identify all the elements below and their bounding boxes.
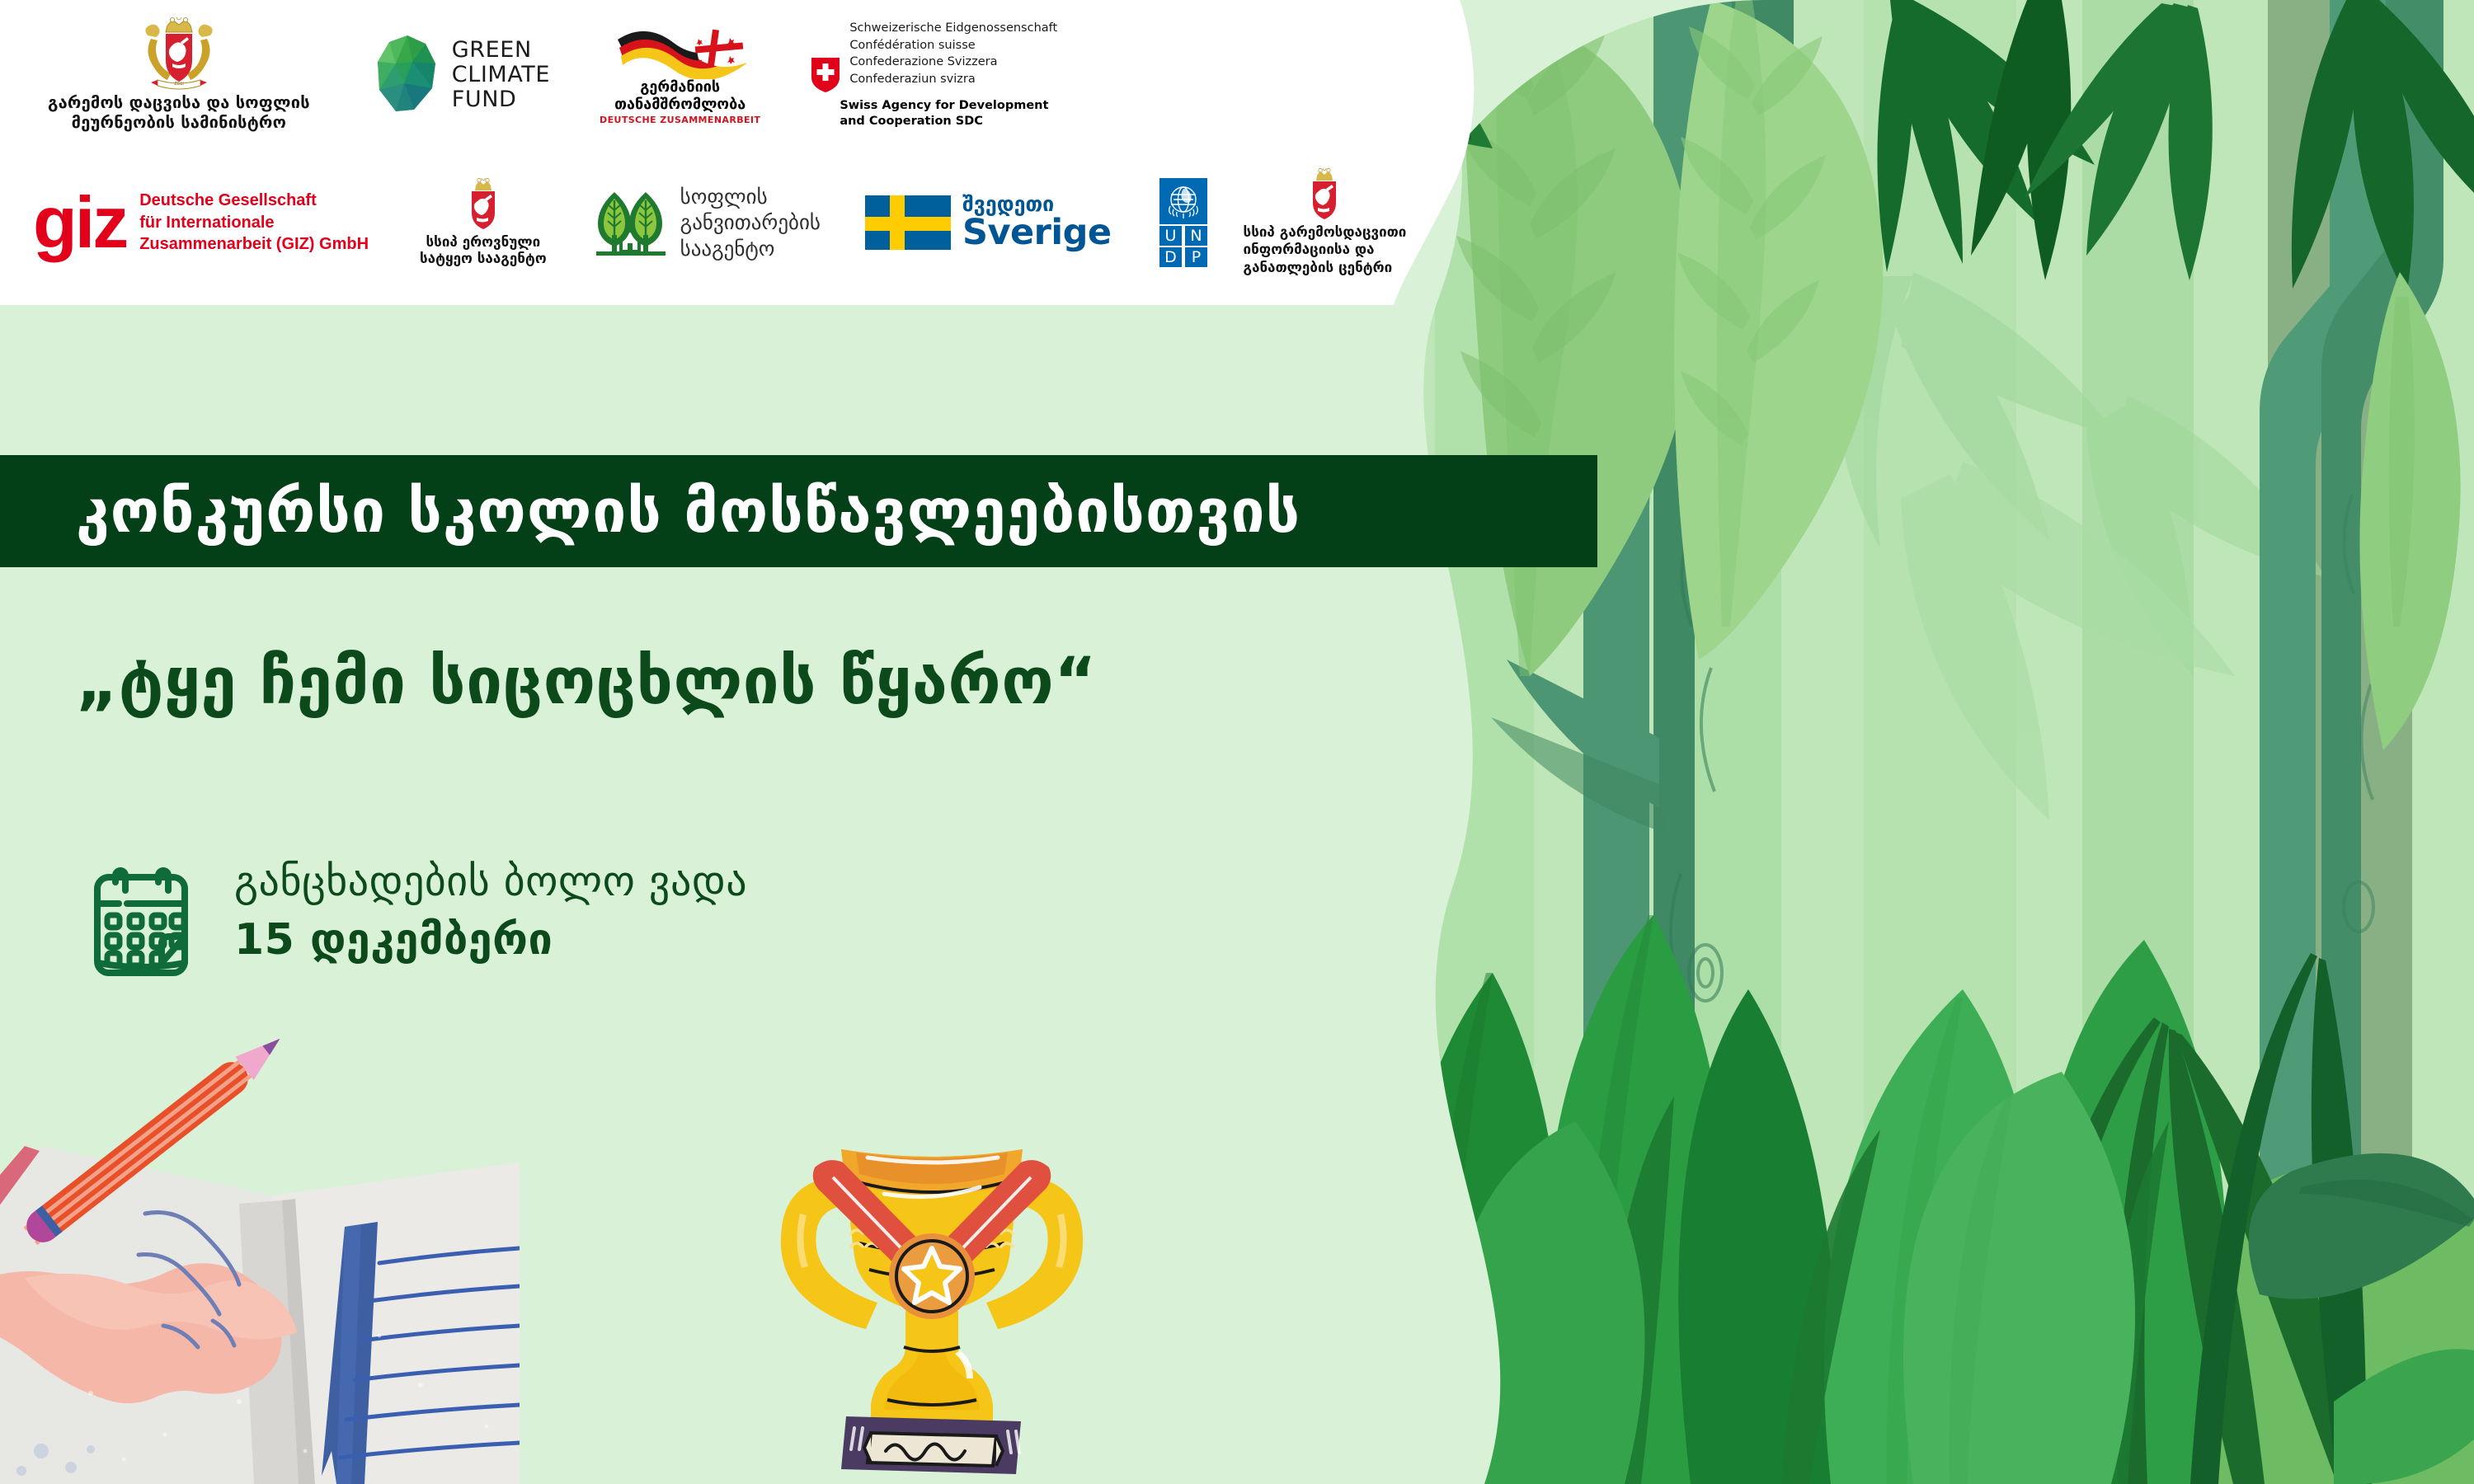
logo-gcf-label: GREEN CLIMATE FUND (452, 38, 550, 111)
calendar-icon (89, 864, 193, 983)
trophy-cup-illustration (767, 1138, 1097, 1484)
svg-text:ZGLI: ZGLI (174, 82, 184, 87)
sweden-flag-icon (865, 195, 951, 250)
logo-german-cooperation-label-geo: გერმანიის თანამშრომლობა (614, 79, 745, 113)
svg-text:D: D (1164, 248, 1177, 266)
logo-env-info-centre-label: სსიპ გარემოსდაცვითი ინფორმაციისა და განა… (1244, 224, 1407, 277)
svg-text:P: P (1191, 248, 1200, 266)
logo-giz-label: Deutsche Gesellschaft für Internationale… (139, 190, 369, 255)
georgia-coat-of-arms-icon: ZGLI (139, 17, 219, 90)
logo-giz-wordmark: giz (33, 194, 126, 251)
forest-illustration (1336, 0, 2474, 1484)
logo-environmental-information-centre: სსიპ გარემოსდაცვითი ინფორმაციისა და განა… (1244, 157, 1407, 289)
logo-undp: U N D P (1159, 157, 1207, 289)
logo-rural-dev-label: სოფლის განვითარების სააგენტო (680, 184, 821, 262)
logo-row-secondary: giz Deutsche Gesellschaft für Internatio… (33, 157, 1406, 289)
deadline-date: 15 დეკემბერი (234, 915, 747, 965)
logo-sdc-bold-lines: Swiss Agency for Development and Coopera… (840, 98, 1057, 130)
svg-text:U: U (1164, 227, 1176, 245)
logo-green-climate-fund: GREEN CLIMATE FUND (374, 5, 550, 145)
svg-text:N: N (1190, 227, 1202, 245)
logo-german-cooperation: გერმანიის თანამშრომლობა DEUTSCHE ZUSAMME… (600, 5, 760, 145)
logo-rural-development-agency: სოფლის განვითარების სააგენტო (593, 157, 821, 289)
georgia-shield-crown-icon (1306, 168, 1343, 219)
trees-house-icon (593, 187, 669, 258)
georgia-shield-crown-icon (465, 178, 501, 229)
hand-pencil-notebook-illustration (0, 1039, 520, 1484)
logo-header: ZGLI გარემოს დაცვისა და სოფლის მეურნეობი… (0, 0, 1501, 305)
logo-national-forestry-agency: სსიპ ეროვნული სატყეო სააგენტო (420, 157, 547, 289)
logo-forestry-agency-label: სსიპ ეროვნული სატყეო სააგენტო (420, 234, 547, 268)
logo-row-primary: ZGLI გარემოს დაცვისა და სოფლის მეურნეობი… (25, 5, 1057, 145)
headline-banner: კონკურსი სკოლის მოსწავლეებისთვის (0, 455, 1597, 567)
deadline-block: განცხადების ბოლო ვადა 15 დეკემბერი (89, 857, 747, 983)
swiss-cross-shield-icon (811, 58, 840, 92)
logo-sweden-label-en: Sverige (962, 214, 1112, 251)
green-climate-fund-gem-icon (374, 35, 440, 115)
subtitle-theme: „ტყე ჩემი სიცოცხლის წყარო“ (76, 645, 1097, 719)
poster-canvas: ZGLI გარემოს დაცვისა და სოფლის მეურნეობი… (0, 0, 2474, 1484)
undp-globe-icon: U N D P (1159, 178, 1207, 267)
logo-sweden: შვედეთი Sverige (865, 157, 1112, 289)
logo-ministry-label: გარემოს დაცვისა და სოფლის მეურნეობის სამ… (48, 93, 310, 132)
logo-ministry-of-environment: ZGLI გარემოს დაცვისა და სოფლის მეურნეობი… (48, 5, 310, 145)
logo-sdc-lines: Schweizerische Eidgenossenschaft Confédé… (849, 20, 1057, 87)
germany-georgia-flag-ribbon-icon (614, 25, 746, 79)
logo-german-cooperation-label-de: DEUTSCHE ZUSAMMENARBEIT (600, 115, 760, 125)
deadline-label: განცხადების ბოლო ვადა (234, 857, 747, 905)
headline-title: კონკურსი სკოლის მოსწავლეებისთვის (76, 477, 1300, 547)
logo-giz: giz Deutsche Gesellschaft für Internatio… (33, 157, 369, 289)
deadline-text-group: განცხადების ბოლო ვადა 15 დეკემბერი (234, 857, 747, 965)
logo-swiss-sdc: Schweizerische Eidgenossenschaft Confédé… (811, 5, 1057, 145)
